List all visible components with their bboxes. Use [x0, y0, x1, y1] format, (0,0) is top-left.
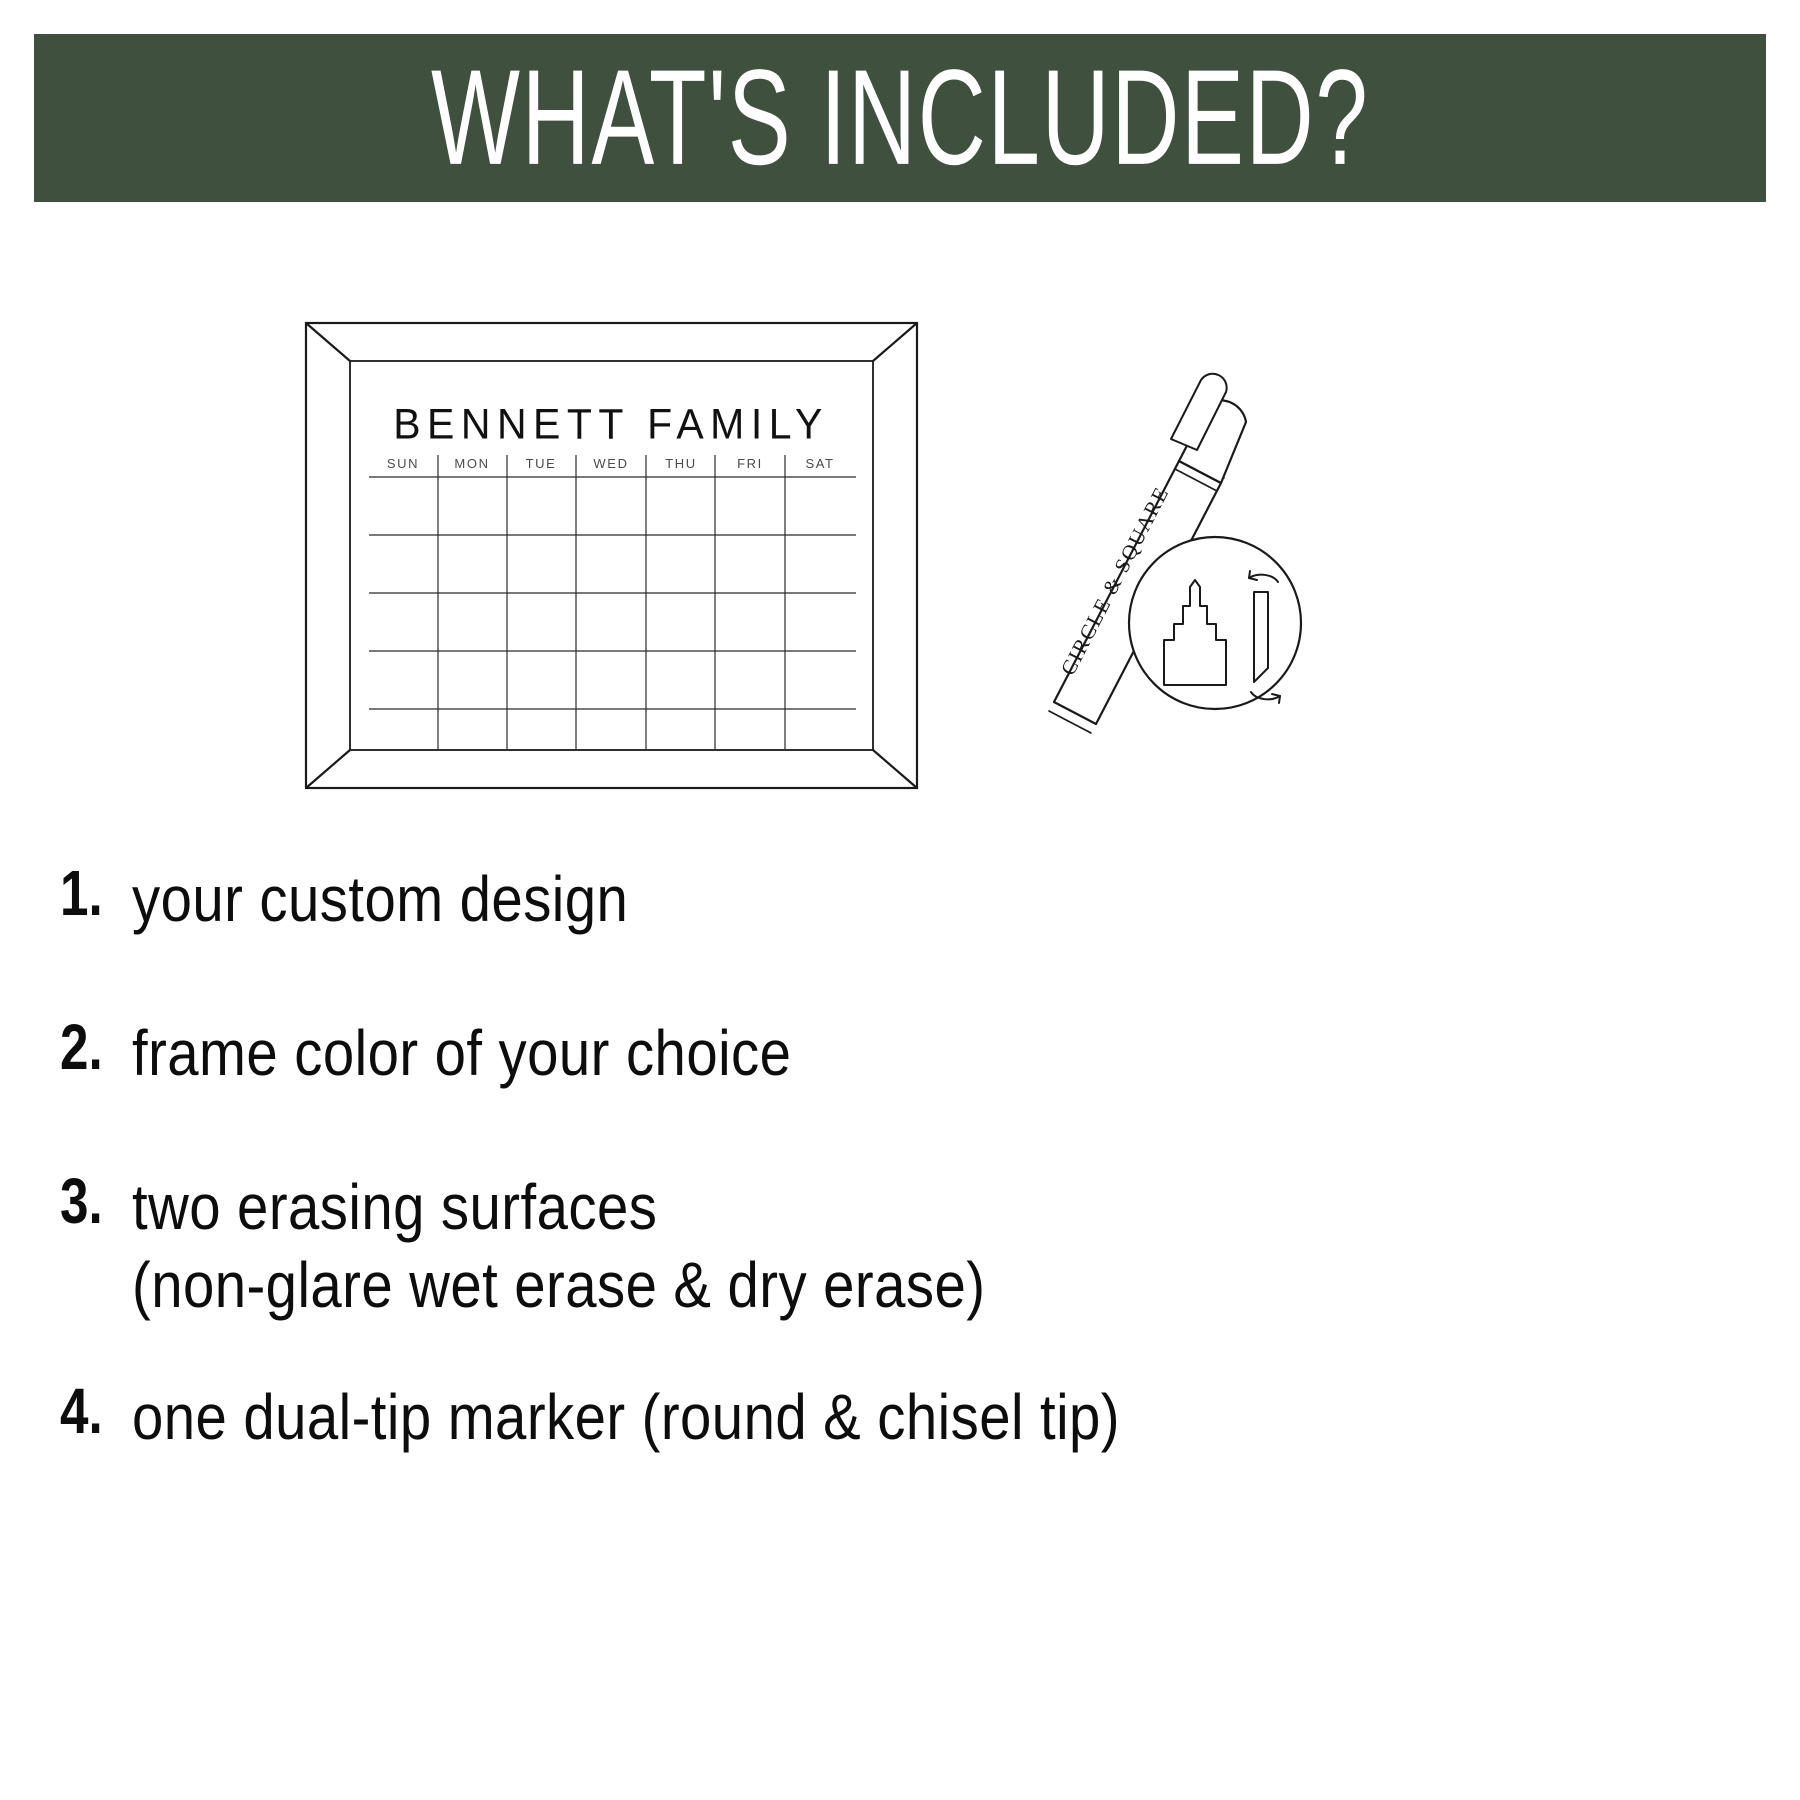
- frame-bevel-tl: [306, 323, 350, 361]
- list-item: 1. your custom design: [60, 860, 1780, 938]
- list-item: 2. frame color of your choice: [60, 1014, 1780, 1092]
- calendar-board-illustration: BENNETT FAMILY SUN MON TUE WED THU FRI S…: [300, 305, 930, 795]
- frame-bevel-tr: [873, 323, 917, 361]
- list-item-number: 3.: [60, 1168, 118, 1235]
- frame-bevel-bl: [306, 750, 350, 788]
- list-item-text: frame color of your choice: [132, 1014, 791, 1092]
- list-item: 4. one dual-tip marker (round & chisel t…: [60, 1378, 1780, 1456]
- day-header-mon: MON: [454, 456, 489, 471]
- calendar-board-svg: BENNETT FAMILY SUN MON TUE WED THU FRI S…: [300, 305, 930, 795]
- list-item: 3. two erasing surfaces (non-glare wet e…: [60, 1168, 1780, 1324]
- chisel-tip-glyph: [1254, 592, 1268, 682]
- list-item-number: 2.: [60, 1014, 118, 1081]
- day-header-sat: SAT: [805, 456, 834, 471]
- marker-illustration: CIRCLE & SQUARE: [1040, 310, 1340, 740]
- list-item-number: 1.: [60, 860, 118, 927]
- marker-svg: CIRCLE & SQUARE: [1040, 310, 1340, 740]
- header-banner: WHAT'S INCLUDED?: [34, 34, 1766, 202]
- day-header-sun: SUN: [387, 456, 419, 471]
- day-header-tue: TUE: [526, 456, 557, 471]
- list-item-text: one dual-tip marker (round & chisel tip): [132, 1378, 1120, 1456]
- frame-bevel-br: [873, 750, 917, 788]
- day-header-wed: WED: [593, 456, 628, 471]
- page-title: WHAT'S INCLUDED?: [431, 50, 1369, 186]
- day-header-fri: FRI: [737, 456, 763, 471]
- included-list: 1. your custom design 2. frame color of …: [60, 860, 1780, 1456]
- board-title: BENNETT FAMILY: [393, 399, 829, 447]
- list-item-number: 4.: [60, 1378, 118, 1445]
- illustration-row: BENNETT FAMILY SUN MON TUE WED THU FRI S…: [0, 290, 1800, 820]
- list-item-text: your custom design: [132, 860, 628, 938]
- day-header-thu: THU: [665, 456, 697, 471]
- list-item-text: two erasing surfaces (non-glare wet eras…: [132, 1168, 985, 1324]
